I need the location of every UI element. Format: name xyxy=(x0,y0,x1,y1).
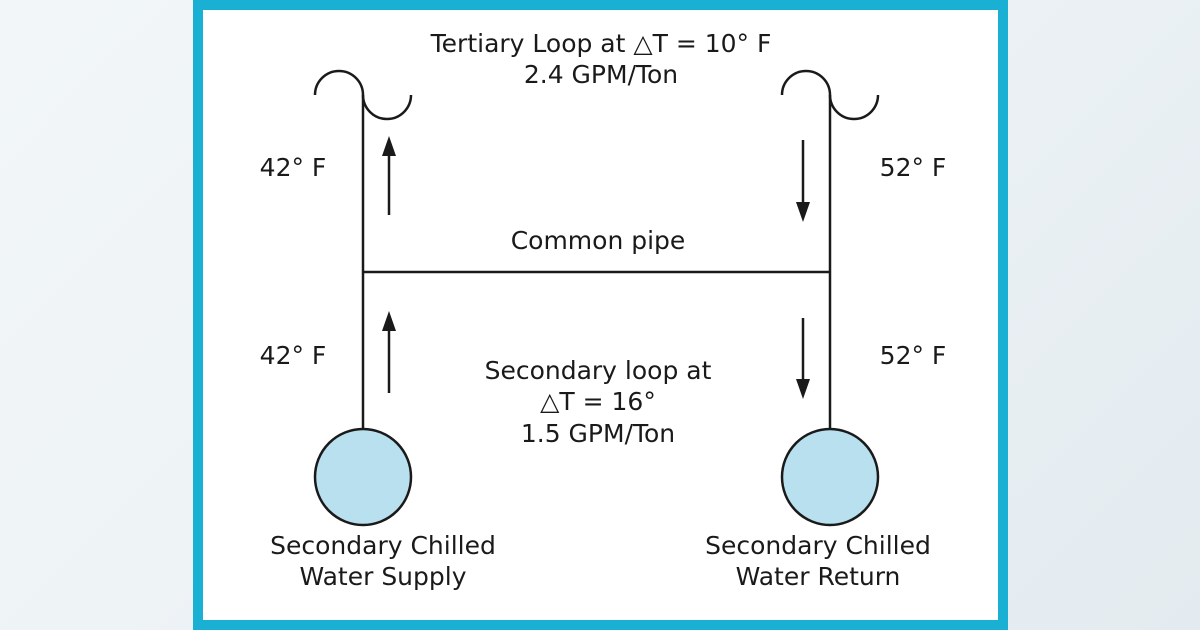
secondary-chilled-water-supply-label: Secondary Chilled Water Supply xyxy=(203,530,568,593)
temperature-label-bottom-left: 42° F xyxy=(213,340,373,371)
secondary-chilled-water-return-label: Secondary Chilled Water Return xyxy=(633,530,998,593)
right-loop-hook-inner xyxy=(830,95,878,119)
tertiary-loop-label: Tertiary Loop at △T = 10° F 2.4 GPM/Ton xyxy=(343,28,859,91)
left-loop-hook-inner xyxy=(363,95,411,119)
flow-arrow-upper-right-head xyxy=(796,202,810,222)
page-root: Tertiary Loop at △T = 10° F 2.4 GPM/Ton … xyxy=(0,0,1200,630)
temperature-label-bottom-right: 52° F xyxy=(833,340,993,371)
flow-arrow-lower-left-head xyxy=(382,311,396,331)
common-pipe-label: Common pipe xyxy=(433,225,763,256)
secondary-loop-label: Secondary loop at △T = 16° 1.5 GPM/Ton xyxy=(418,355,778,449)
flow-arrow-upper-left-head xyxy=(382,136,396,156)
diagram-frame: Tertiary Loop at △T = 10° F 2.4 GPM/Ton … xyxy=(193,0,1008,630)
flow-arrow-lower-right-head xyxy=(796,379,810,399)
temperature-label-top-right: 52° F xyxy=(833,152,993,183)
supply-pump-symbol xyxy=(315,429,411,525)
temperature-label-top-left: 42° F xyxy=(213,152,373,183)
diagram-canvas: Tertiary Loop at △T = 10° F 2.4 GPM/Ton … xyxy=(203,10,998,620)
return-pump-symbol xyxy=(782,429,878,525)
piping-schematic-graphic xyxy=(203,10,998,620)
